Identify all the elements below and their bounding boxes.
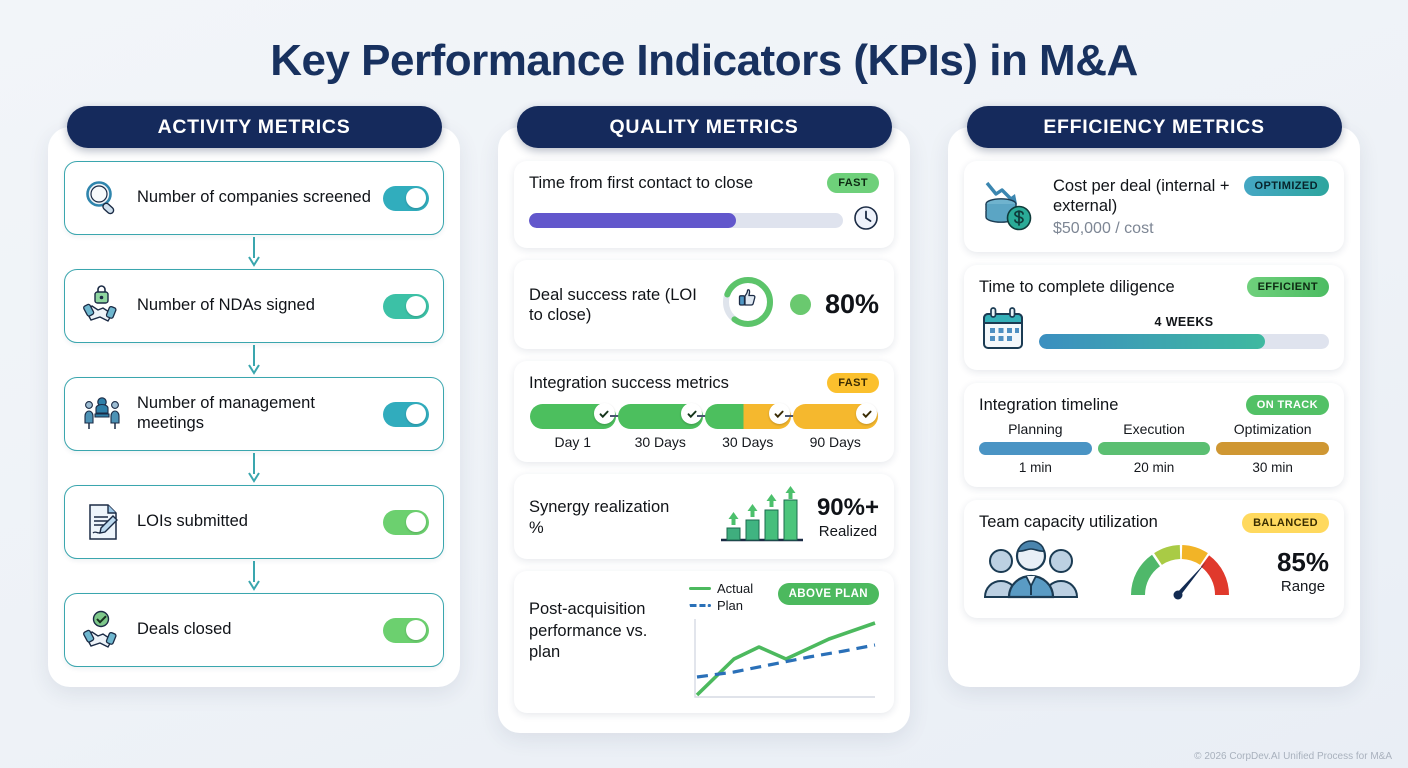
meeting-people-icon — [79, 391, 125, 437]
document-signature-icon — [79, 499, 125, 545]
card-title-text: Synergy realization % — [529, 498, 669, 537]
legend-swatch-plan — [689, 604, 711, 607]
synergy-value: 90%+ — [817, 494, 879, 521]
toggle-knob — [406, 404, 426, 424]
column-activity: ACTIVITY METRICS Number of companies scr… — [48, 106, 460, 733]
progress-bar — [529, 213, 843, 228]
column-body-quality: Time from first contact to close FAST — [498, 127, 910, 733]
chart-legend: Actual Plan — [689, 581, 753, 615]
activity-item-label: Number of NDAs signed — [137, 296, 371, 316]
status-badge: BALANCED — [1242, 513, 1329, 533]
activity-item-management-meetings[interactable]: Number of management meetings — [64, 377, 444, 451]
card-title: Time to complete diligence — [979, 277, 1175, 297]
capacity-value-block: 85% Range — [1277, 549, 1329, 595]
quality-card-synergy-realization[interactable]: Synergy realization % — [514, 474, 894, 559]
flow-arrow — [64, 451, 444, 485]
team-people-icon — [979, 539, 1083, 606]
column-header-efficiency: EFFICIENCY METRICS — [967, 106, 1342, 148]
phase-bar — [979, 442, 1092, 455]
status-badge: FAST — [827, 373, 879, 393]
phase-name: Optimization — [1216, 421, 1329, 437]
lock-handshake-icon — [79, 283, 125, 329]
card-title: Time from first contact to close — [529, 173, 753, 193]
progress-bar — [1039, 334, 1329, 349]
toggle-knob — [406, 188, 426, 208]
timeline-phase[interactable]: Planning 1 min — [979, 421, 1092, 475]
timeline-step[interactable]: Day 1 — [529, 404, 617, 450]
quality-card-integration-success[interactable]: Integration success metrics FAST Day 1 — [514, 361, 894, 462]
activity-item-label: Deals closed — [137, 620, 371, 640]
legend-label: Plan — [717, 598, 743, 613]
synergy-caption: Realized — [817, 523, 879, 540]
column-body-efficiency: Cost per deal (internal + external) OPTI… — [948, 127, 1360, 687]
check-icon — [681, 403, 702, 424]
progress-fill — [529, 213, 736, 228]
capacity-visual: 85% Range — [979, 539, 1329, 606]
bar-growth-icon — [717, 484, 807, 551]
legend-item-plan: Plan — [689, 598, 753, 613]
quality-card-deal-success-rate[interactable]: Deal success rate (LOI to close) — [514, 260, 894, 349]
timeline-phases: Planning 1 min Execution 20 min Optimiza… — [979, 421, 1329, 475]
status-badge: EFFICIENT — [1247, 277, 1329, 297]
card-title: Integration timeline — [979, 395, 1118, 415]
activity-toggle[interactable] — [383, 402, 429, 427]
card-title: Synergy realization % — [529, 497, 679, 538]
activity-item-label: Number of management meetings — [137, 394, 371, 434]
activity-toggle[interactable] — [383, 294, 429, 319]
flow-arrow — [64, 235, 444, 269]
post-acquisition-visual: Actual Plan ABOVE PLAN — [689, 581, 879, 707]
status-badge: ABOVE PLAN — [778, 583, 879, 605]
page-title: Key Performance Indicators (KPIs) in M&A — [0, 0, 1408, 84]
timeline-phase[interactable]: Optimization 30 min — [1216, 421, 1329, 475]
toggle-knob — [406, 512, 426, 532]
magnifier-icon — [79, 175, 125, 221]
quality-card-post-acquisition[interactable]: Post-acquisition performance vs. plan Ac… — [514, 571, 894, 713]
bar-label: 4 WEEKS — [1039, 315, 1329, 329]
column-header-quality: QUALITY METRICS — [517, 106, 892, 148]
legend-swatch-actual — [689, 587, 711, 590]
toggle-knob — [406, 620, 426, 640]
activity-item-label: LOIs submitted — [137, 512, 371, 532]
step-label: 90 Days — [792, 434, 880, 450]
capacity-caption: Range — [1277, 578, 1329, 595]
activity-item-ndas-signed[interactable]: Number of NDAs signed — [64, 269, 444, 343]
toggle-knob — [406, 296, 426, 316]
efficiency-card-integration-timeline[interactable]: Integration timeline ON TRACK Planning 1… — [964, 383, 1344, 487]
activity-toggle[interactable] — [383, 510, 429, 535]
legend-label: Actual — [717, 581, 753, 596]
efficiency-card-team-capacity[interactable]: Team capacity utilization BALANCED — [964, 500, 1344, 617]
column-efficiency: EFFICIENCY METRICS — [948, 106, 1360, 733]
activity-toggle[interactable] — [383, 618, 429, 643]
quality-card-time-to-close[interactable]: Time from first contact to close FAST — [514, 161, 894, 248]
step-timeline: Day 1 30 Days 30 Day — [529, 404, 879, 450]
card-title-text: Post-acquisition performance vs. plan — [529, 600, 647, 661]
timeline-phase[interactable]: Execution 20 min — [1098, 421, 1211, 475]
progress-fill — [1039, 334, 1265, 349]
thumbs-up-icon — [739, 290, 754, 305]
check-icon — [594, 403, 615, 424]
phase-name: Planning — [979, 421, 1092, 437]
metrics-columns: ACTIVITY METRICS Number of companies scr… — [0, 84, 1408, 733]
card-title-text: Deal success rate (LOI to close) — [529, 286, 697, 324]
check-icon — [856, 403, 877, 424]
legend-item-actual: Actual — [689, 581, 753, 596]
phase-time: 20 min — [1098, 460, 1211, 475]
phase-name: Execution — [1098, 421, 1211, 437]
status-badge: OPTIMIZED — [1244, 176, 1330, 196]
card-title: Integration success metrics — [529, 373, 729, 393]
activity-item-label: Number of companies screened — [137, 188, 371, 208]
card-title-text: Cost per deal (internal + external) — [1053, 177, 1230, 215]
card-title: Cost per deal (internal + external) — [1053, 176, 1238, 216]
activity-item-deals-closed[interactable]: Deals closed — [64, 593, 444, 667]
column-header-activity: ACTIVITY METRICS — [67, 106, 442, 148]
handshake-check-icon — [79, 607, 125, 653]
status-badge: ON TRACK — [1246, 395, 1329, 415]
flow-arrow — [64, 343, 444, 377]
activity-item-lois-submitted[interactable]: LOIs submitted — [64, 485, 444, 559]
step-label: 30 Days — [617, 434, 705, 450]
clock-icon — [853, 205, 879, 236]
gauge-chart — [1128, 539, 1232, 606]
column-quality: QUALITY METRICS Time from first contact … — [498, 106, 910, 733]
phase-bar — [1098, 442, 1211, 455]
deal-success-visual: 80% — [720, 274, 879, 335]
status-badge: FAST — [827, 173, 879, 193]
step-label: Day 1 — [529, 434, 617, 450]
timeline-step[interactable]: 30 Days — [617, 404, 705, 450]
synergy-visual: 90%+ Realized — [717, 484, 879, 551]
card-title: Post-acquisition performance vs. plan — [529, 581, 679, 663]
flow-arrow — [64, 559, 444, 593]
efficiency-card-cost-per-deal[interactable]: Cost per deal (internal + external) OPTI… — [964, 161, 1344, 252]
column-body-activity: Number of companies screened — [48, 127, 460, 687]
step-label: 30 Days — [704, 434, 792, 450]
line-chart — [689, 615, 879, 707]
footer-copyright: © 2026 CorpDev.AI Unified Process for M&… — [1194, 751, 1392, 762]
activity-item-companies-screened[interactable]: Number of companies screened — [64, 161, 444, 235]
donut-chart — [720, 274, 776, 335]
efficiency-card-diligence-time[interactable]: Time to complete diligence EFFICIENT — [964, 265, 1344, 370]
card-title: Deal success rate (LOI to close) — [529, 285, 704, 325]
phase-time: 30 min — [1216, 460, 1329, 475]
activity-toggle[interactable] — [383, 186, 429, 211]
check-icon — [769, 403, 790, 424]
calendar-icon — [979, 305, 1027, 358]
coins-down-arrow-icon — [979, 173, 1041, 240]
card-title: Team capacity utilization — [979, 512, 1158, 532]
card-subtitle: $50,000 / cost — [1053, 220, 1329, 238]
phase-time: 1 min — [979, 460, 1092, 475]
capacity-value: 85% — [1277, 547, 1329, 577]
timeline-step[interactable]: 30 Days — [704, 404, 792, 450]
status-dot — [790, 294, 811, 315]
synergy-value-block: 90%+ Realized — [817, 496, 879, 540]
deal-success-value: 80% — [825, 289, 879, 320]
timeline-step[interactable]: 90 Days — [792, 404, 880, 450]
phase-bar — [1216, 442, 1329, 455]
